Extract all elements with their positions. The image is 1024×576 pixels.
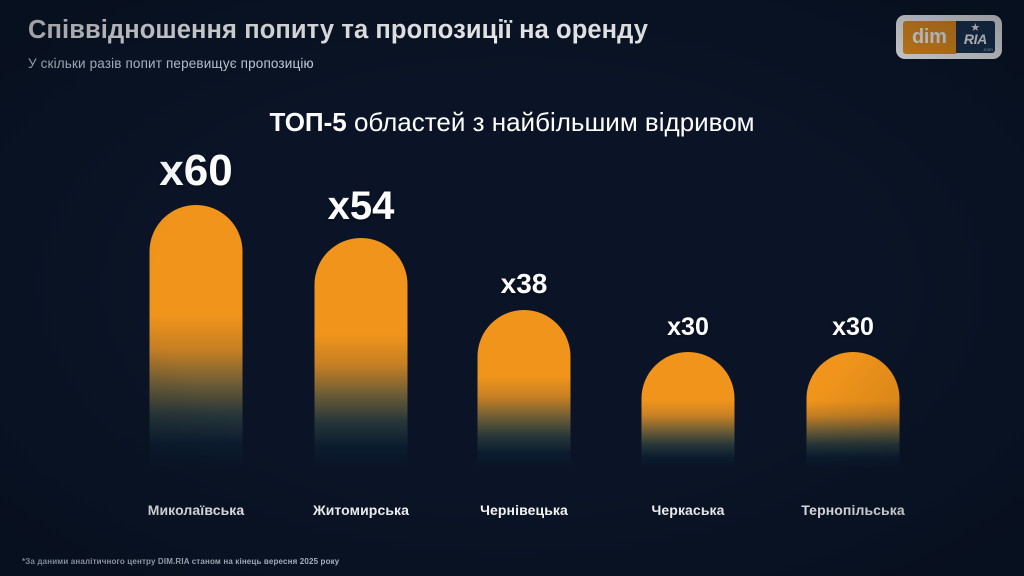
bar-group: x30Тернопільська bbox=[770, 0, 936, 576]
bar-2[interactable] bbox=[315, 238, 408, 468]
bar-group: x54Житомирська bbox=[278, 0, 444, 576]
bar-value-label: x38 bbox=[501, 270, 548, 298]
bar-category-label: Черкаська bbox=[651, 502, 724, 518]
bar-value-label: x60 bbox=[159, 149, 232, 193]
bar-3[interactable] bbox=[478, 310, 571, 468]
bar-value-label: x30 bbox=[832, 315, 874, 340]
bar-group: x60Миколаївська bbox=[113, 0, 279, 576]
infographic-poster: Співвідношення попиту та пропозиції на о… bbox=[0, 0, 1024, 576]
bar-value-label: x54 bbox=[328, 186, 395, 226]
bar-group: x38Чернівецька bbox=[441, 0, 607, 576]
bar-value-label: x30 bbox=[667, 315, 709, 340]
bar-category-label: Тернопільська bbox=[801, 502, 905, 518]
bar-chart: x60Миколаївськаx54Житомирськаx38Чернівец… bbox=[0, 0, 1024, 576]
bar-category-label: Миколаївська bbox=[148, 502, 245, 518]
bar-category-label: Чернівецька bbox=[480, 502, 568, 518]
bar-category-label: Житомирська bbox=[313, 502, 409, 518]
footnote: *За даними аналітичного центру DIM.RIA с… bbox=[22, 557, 339, 566]
bar-1[interactable] bbox=[150, 205, 243, 468]
bar-4[interactable] bbox=[642, 352, 735, 468]
bar-5[interactable] bbox=[807, 352, 900, 468]
bar-group: x30Черкаська bbox=[605, 0, 771, 576]
